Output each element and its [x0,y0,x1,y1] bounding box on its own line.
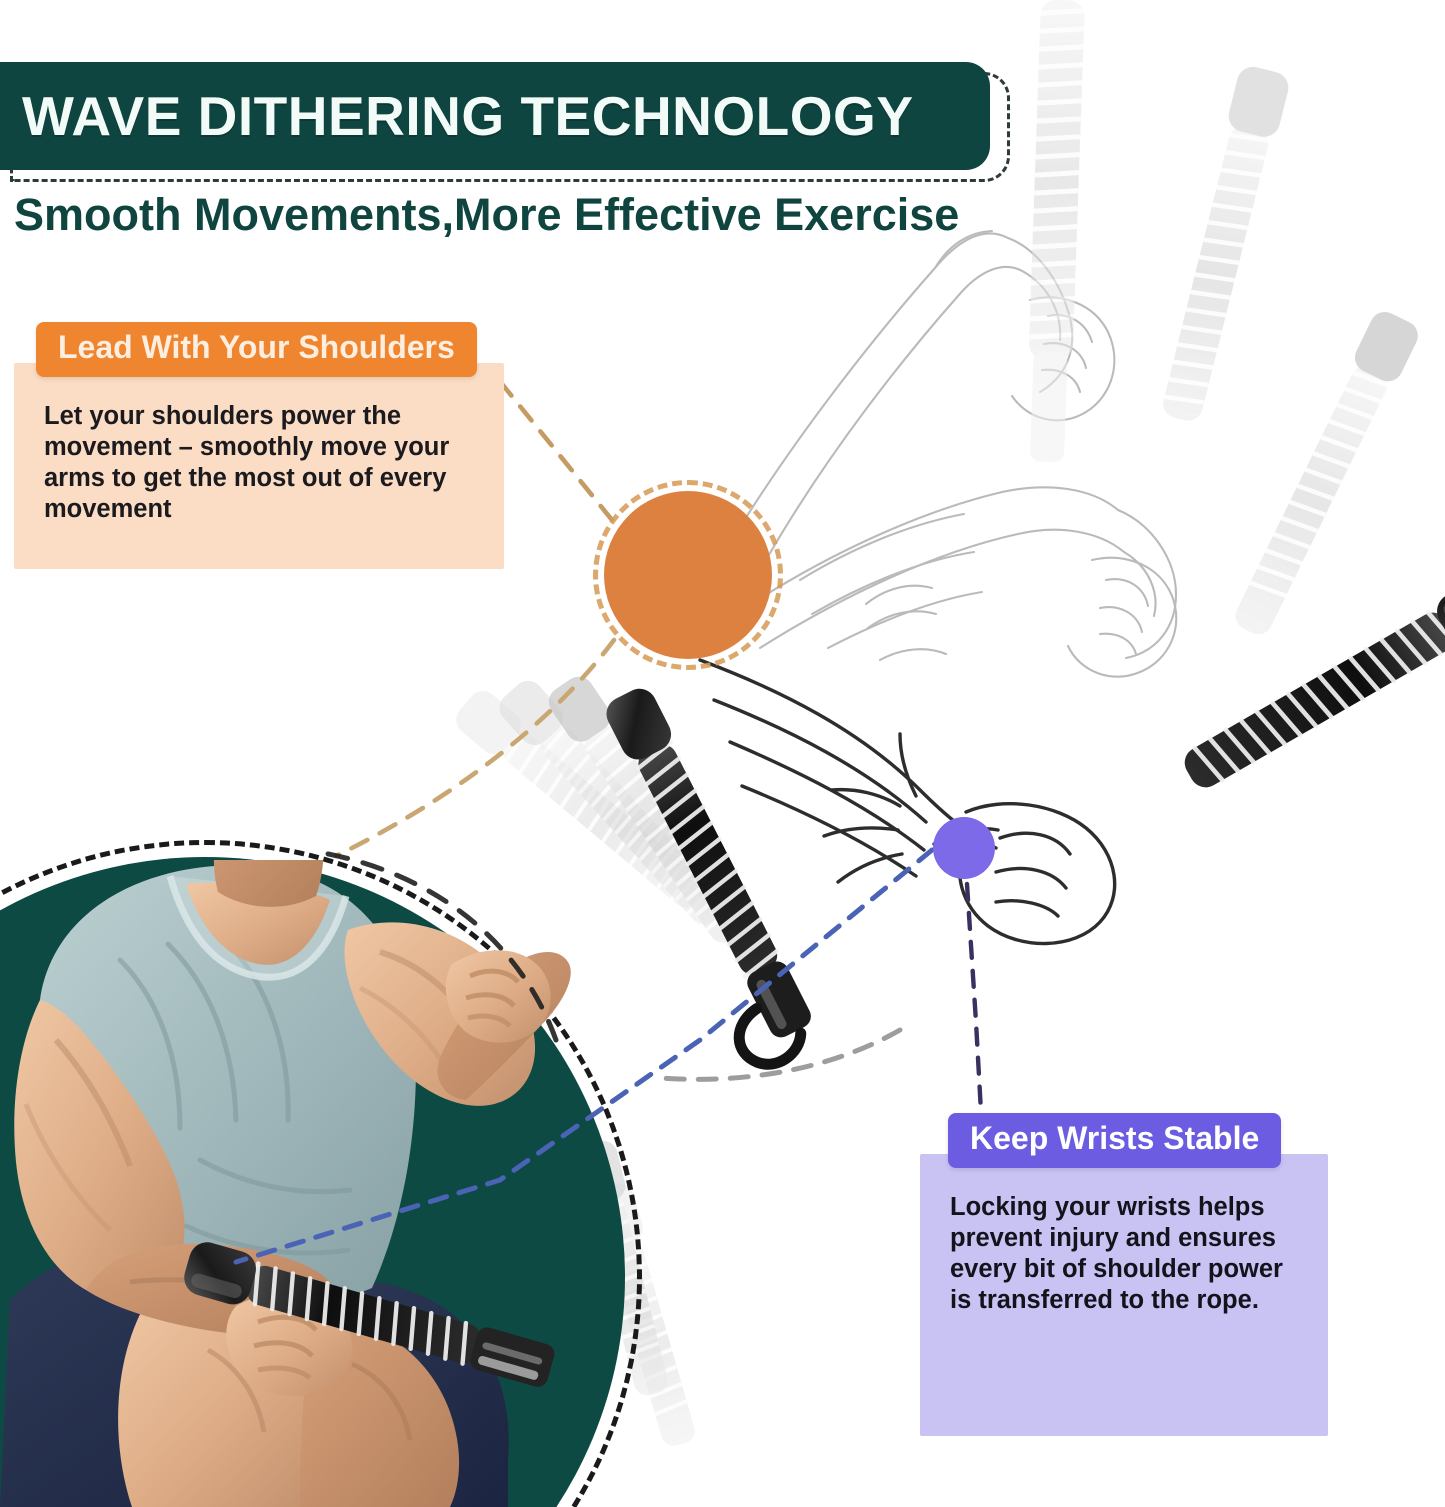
page-title: WAVE DITHERING TECHNOLOGY [0,89,914,144]
title-block: WAVE DITHERING TECHNOLOGY [0,62,1012,182]
title-bar: WAVE DITHERING TECHNOLOGY [0,62,990,170]
infographic-canvas: Lead With Your Shoulders Let your should… [0,0,1445,1507]
header-region: WAVE DITHERING TECHNOLOGY Smooth Movemen… [0,0,1445,1507]
page-subtitle: Smooth Movements,More Effective Exercise [14,190,1074,240]
